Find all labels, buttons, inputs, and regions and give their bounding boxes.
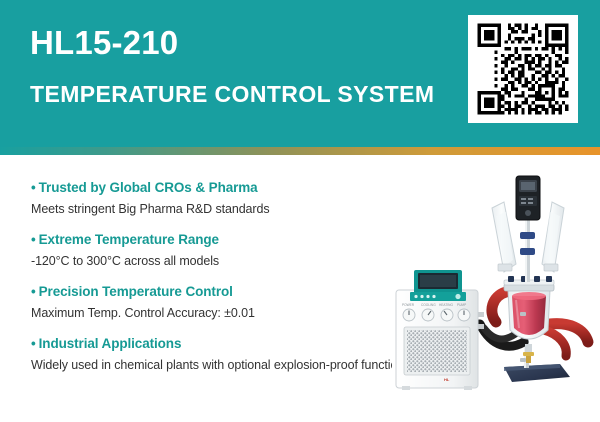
product-subtitle: TEMPERATURE CONTROL SYSTEM — [30, 81, 434, 108]
product-spec-card: HL15-210 TEMPERATURE CONTROL SYSTEM — [0, 0, 600, 422]
feature-title-text: Industrial Applications — [39, 336, 182, 351]
model-title: HL15-210 — [30, 26, 434, 61]
bullet-icon: • — [31, 180, 36, 195]
header-text-block: HL15-210 TEMPERATURE CONTROL SYSTEM — [30, 26, 434, 108]
header-banner: HL15-210 TEMPERATURE CONTROL SYSTEM — [0, 0, 600, 147]
qr-code-icon — [474, 20, 572, 118]
svg-text:HEATING: HEATING — [439, 303, 453, 307]
jacketed-glass-reactor-illustration: POWERCOOLING HEATINGPUMP HL — [392, 172, 598, 397]
qr-code[interactable] — [468, 15, 578, 123]
bullet-icon: • — [31, 232, 36, 247]
feature-title-text: Extreme Temperature Range — [39, 232, 219, 247]
accent-gradient-bar — [0, 147, 600, 155]
feature-title-text: Trusted by Global CROs & Pharma — [39, 180, 258, 195]
product-image: POWERCOOLING HEATINGPUMP HL — [392, 172, 598, 397]
bullet-icon: • — [31, 284, 36, 299]
svg-text:COOLING: COOLING — [421, 303, 436, 307]
feature-title-text: Precision Temperature Control — [39, 284, 233, 299]
svg-text:POWER: POWER — [402, 303, 415, 307]
svg-text:HL: HL — [444, 377, 450, 382]
svg-text:PUMP: PUMP — [457, 303, 466, 307]
bullet-icon: • — [31, 336, 36, 351]
